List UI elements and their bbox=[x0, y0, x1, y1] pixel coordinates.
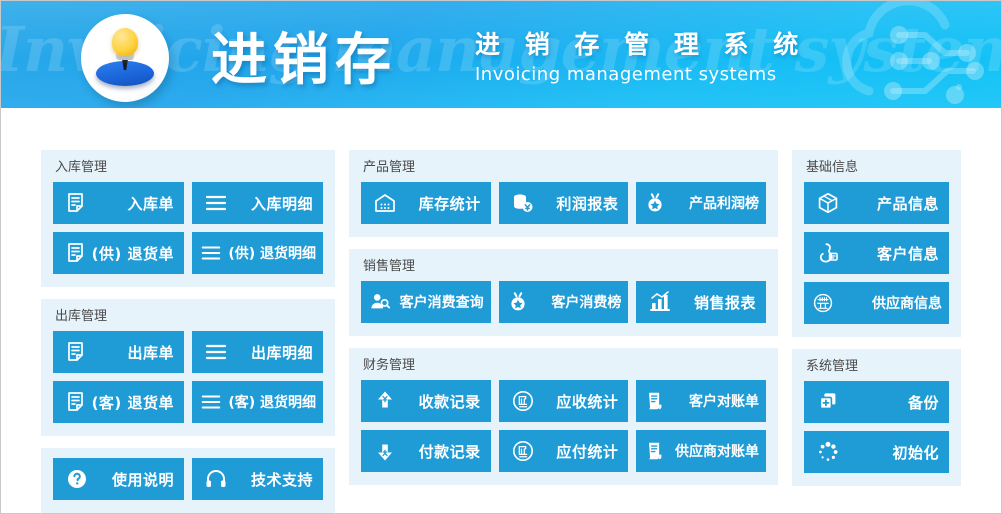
panel-button-grid-outbound: 出库单出库明细(客) 退货单(客) 退货明细 bbox=[53, 331, 323, 423]
button-label: 客户对账单 bbox=[666, 391, 759, 411]
button-label: 利润报表 bbox=[536, 193, 619, 214]
panel-basic: 基础信息产品信息客户信息供应商信息 bbox=[792, 150, 961, 337]
app-logo bbox=[81, 14, 169, 102]
panel-finance: 财务管理收款记录应收统计客户对账单付款记录应付统计供应商对账单 bbox=[349, 348, 778, 485]
button-label: 入库单 bbox=[90, 193, 174, 214]
cloud-network-icon bbox=[807, 1, 997, 108]
button-finance-4[interactable]: 付款记录 bbox=[361, 430, 491, 472]
user-card-icon bbox=[815, 240, 841, 266]
brand-title-cn: 进销存 bbox=[211, 15, 397, 96]
panel-button-grid-help: 使用说明技术支持 bbox=[53, 458, 323, 500]
panel-title-basic: 基础信息 bbox=[806, 160, 949, 176]
spinner-dots-icon bbox=[815, 439, 841, 465]
app-body: 入库管理入库单入库明细(供) 退货单(供) 退货明细出库管理出库单出库明细(客)… bbox=[1, 108, 1001, 514]
panel-system: 系统管理备份初始化 bbox=[792, 349, 961, 486]
panel-title-outbound: 出库管理 bbox=[55, 309, 323, 325]
headset-icon bbox=[203, 466, 229, 492]
button-help-1[interactable]: 使用说明 bbox=[53, 458, 184, 500]
button-product-1[interactable]: 库存统计 bbox=[361, 182, 491, 224]
button-label: 客户消费榜 bbox=[529, 292, 622, 312]
bar-chart-icon bbox=[647, 289, 673, 315]
panel-title-product: 产品管理 bbox=[363, 160, 766, 176]
medal-star-icon bbox=[507, 291, 529, 313]
panel-button-grid-system: 备份初始化 bbox=[804, 381, 949, 473]
button-basic-1[interactable]: 产品信息 bbox=[804, 182, 949, 224]
brand-subtitle-en: Invoicing management systems bbox=[475, 64, 777, 85]
button-finance-1[interactable]: 收款记录 bbox=[361, 380, 491, 422]
panel-button-grid-finance: 收款记录应收统计客户对账单付款记录应付统计供应商对账单 bbox=[361, 380, 766, 472]
button-label: 客户信息 bbox=[841, 243, 939, 264]
button-basic-2[interactable]: 客户信息 bbox=[804, 232, 949, 274]
column-right: 基础信息产品信息客户信息供应商信息系统管理备份初始化 bbox=[792, 150, 961, 504]
button-product-3[interactable]: 产品利润榜 bbox=[636, 182, 766, 224]
panel-sales: 销售管理客户消费查询客户消费榜销售报表 bbox=[349, 249, 778, 336]
button-finance-3[interactable]: 客户对账单 bbox=[636, 380, 766, 422]
panel-title-inbound: 入库管理 bbox=[55, 160, 323, 176]
coin-stack-icon bbox=[510, 190, 536, 216]
warehouse-icon bbox=[372, 190, 398, 216]
button-label: 库存统计 bbox=[398, 193, 481, 214]
copy-plus-icon bbox=[815, 389, 841, 415]
button-outbound-2[interactable]: 出库明细 bbox=[192, 331, 323, 373]
button-finance-5[interactable]: 应付统计 bbox=[499, 430, 629, 472]
button-label: 初始化 bbox=[841, 442, 939, 463]
button-finance-6[interactable]: 供应商对账单 bbox=[636, 430, 766, 472]
list-lines-icon bbox=[203, 339, 229, 365]
button-label: 备份 bbox=[841, 392, 939, 413]
button-label: 销售报表 bbox=[673, 292, 756, 313]
circle-ying-icon bbox=[510, 388, 536, 414]
panel-button-grid-sales: 客户消费查询客户消费榜销售报表 bbox=[361, 281, 766, 323]
panel-button-grid-inbound: 入库单入库明细(供) 退货单(供) 退货明细 bbox=[53, 182, 323, 274]
arrow-up-yen-icon bbox=[372, 438, 398, 464]
button-label: 供应商对账单 bbox=[666, 441, 759, 461]
button-label: 供应商信息 bbox=[834, 293, 942, 313]
panel-title-system: 系统管理 bbox=[806, 359, 949, 375]
button-label: 客户消费查询 bbox=[391, 292, 484, 312]
button-inbound-3[interactable]: (供) 退货单 bbox=[53, 232, 184, 274]
panel-columns: 入库管理入库单入库明细(供) 退货单(供) 退货明细出库管理出库单出库明细(客)… bbox=[41, 150, 961, 504]
document-note-icon bbox=[64, 190, 90, 216]
question-circle-icon bbox=[64, 466, 90, 492]
panel-outbound: 出库管理出库单出库明细(客) 退货单(客) 退货明细 bbox=[41, 299, 335, 436]
medal-star-icon bbox=[644, 192, 666, 214]
button-label: 出库明细 bbox=[229, 342, 313, 363]
button-inbound-1[interactable]: 入库单 bbox=[53, 182, 184, 224]
app-header: Invoicing management systems bbox=[1, 1, 1001, 108]
button-label: 应付统计 bbox=[536, 441, 619, 462]
button-label: (供) 退货单 bbox=[90, 243, 174, 264]
button-label: 应收统计 bbox=[536, 391, 619, 412]
circle-ying-icon bbox=[510, 438, 536, 464]
column-left: 入库管理入库单入库明细(供) 退货单(供) 退货明细出库管理出库单出库明细(客)… bbox=[41, 150, 335, 504]
document-note-icon bbox=[64, 240, 90, 266]
invoice-scroll-icon bbox=[644, 390, 666, 412]
brand-subtitle-cn: 进 销 存 管 理 系 统 bbox=[475, 25, 806, 61]
logo-bulb-shape bbox=[112, 28, 138, 56]
document-note-icon bbox=[64, 339, 90, 365]
button-outbound-4[interactable]: (客) 退货明细 bbox=[192, 381, 323, 423]
document-note-icon bbox=[64, 389, 90, 415]
panel-title-sales: 销售管理 bbox=[363, 259, 766, 275]
button-sales-2[interactable]: 客户消费榜 bbox=[499, 281, 629, 323]
button-finance-2[interactable]: 应收统计 bbox=[499, 380, 629, 422]
button-label: 技术支持 bbox=[229, 469, 313, 490]
list-lines-icon bbox=[200, 242, 222, 264]
button-label: 付款记录 bbox=[398, 441, 481, 462]
panel-button-grid-basic: 产品信息客户信息供应商信息 bbox=[804, 182, 949, 324]
column-middle: 产品管理库存统计利润报表产品利润榜销售管理客户消费查询客户消费榜销售报表财务管理… bbox=[349, 150, 778, 504]
button-help-2[interactable]: 技术支持 bbox=[192, 458, 323, 500]
button-label: (供) 退货明细 bbox=[222, 243, 316, 263]
button-label: 收款记录 bbox=[398, 391, 481, 412]
button-sales-3[interactable]: 销售报表 bbox=[636, 281, 766, 323]
box-cube-icon bbox=[815, 190, 841, 216]
button-label: 使用说明 bbox=[90, 469, 174, 490]
button-label: 产品信息 bbox=[841, 193, 939, 214]
button-system-2[interactable]: 初始化 bbox=[804, 431, 949, 473]
list-lines-icon bbox=[200, 391, 222, 413]
panel-inbound: 入库管理入库单入库明细(供) 退货单(供) 退货明细 bbox=[41, 150, 335, 287]
circle-gong-icon bbox=[812, 292, 834, 314]
user-search-icon bbox=[369, 291, 391, 313]
button-system-1[interactable]: 备份 bbox=[804, 381, 949, 423]
button-basic-3[interactable]: 供应商信息 bbox=[804, 282, 949, 324]
button-product-2[interactable]: 利润报表 bbox=[499, 182, 629, 224]
arrow-down-yen-icon bbox=[372, 388, 398, 414]
invoice-scroll-icon bbox=[644, 440, 666, 462]
button-inbound-4[interactable]: (供) 退货明细 bbox=[192, 232, 323, 274]
button-label: 入库明细 bbox=[229, 193, 313, 214]
button-label: (客) 退货单 bbox=[90, 392, 174, 413]
button-label: 出库单 bbox=[90, 342, 174, 363]
panel-product: 产品管理库存统计利润报表产品利润榜 bbox=[349, 150, 778, 237]
panel-title-finance: 财务管理 bbox=[363, 358, 766, 374]
app-window: Invoicing management systems bbox=[0, 0, 1002, 514]
button-outbound-1[interactable]: 出库单 bbox=[53, 331, 184, 373]
button-label: (客) 退货明细 bbox=[222, 392, 316, 412]
button-sales-1[interactable]: 客户消费查询 bbox=[361, 281, 491, 323]
button-inbound-2[interactable]: 入库明细 bbox=[192, 182, 323, 224]
panel-help: 使用说明技术支持 bbox=[41, 448, 335, 513]
list-lines-icon bbox=[203, 190, 229, 216]
button-label: 产品利润榜 bbox=[666, 193, 759, 213]
panel-button-grid-product: 库存统计利润报表产品利润榜 bbox=[361, 182, 766, 224]
button-outbound-3[interactable]: (客) 退货单 bbox=[53, 381, 184, 423]
